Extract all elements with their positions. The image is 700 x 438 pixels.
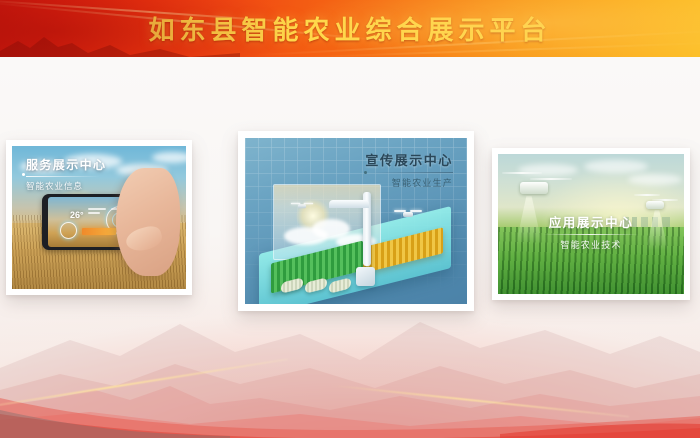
- card-application-text: 应用展示中心 智能农业技术: [498, 212, 684, 251]
- card-service-text: 服务展示中心 智能农业信息: [26, 156, 106, 192]
- card-promotion-subtitle: 智能农业生产: [365, 176, 453, 189]
- banner-light-rays: [0, 0, 700, 57]
- irrigation-pole: [363, 192, 371, 266]
- divider: [543, 234, 639, 235]
- card-service-display-center[interactable]: 26° 服务展示中心 智能农业信息: [6, 140, 192, 295]
- card-service-title: 服务展示中心: [26, 156, 106, 173]
- card-application-image: 应用展示中心 智能农业技术: [498, 154, 684, 294]
- divider: [369, 172, 453, 173]
- hud-temperature: 26°: [70, 210, 84, 220]
- drone-icon: [292, 201, 313, 210]
- header-banner: 如东县智能农业综合展示平台: [0, 0, 700, 57]
- drone-icon: [395, 208, 421, 219]
- card-service-image: 26° 服务展示中心 智能农业信息: [12, 146, 186, 289]
- page-title: 如东县智能农业综合展示平台: [0, 0, 700, 57]
- card-service-subtitle: 智能农业信息: [26, 180, 106, 192]
- divider: [26, 176, 100, 177]
- banner-mountain-silhouette: [0, 31, 240, 57]
- hud-data-bar: [82, 228, 116, 235]
- card-promotion-display-center[interactable]: 宣传展示中心 智能农业生产: [238, 131, 474, 311]
- card-application-display-center[interactable]: 应用展示中心 智能农业技术: [492, 148, 690, 300]
- card-promotion-text: 宣传展示中心 智能农业生产: [365, 150, 453, 189]
- card-promotion-title: 宣传展示中心: [365, 150, 453, 169]
- water-tank: [356, 267, 375, 286]
- drone-icon: [502, 166, 574, 208]
- page-root: 如东县智能农业综合展示平台 26°: [0, 0, 700, 438]
- card-promotion-image: 宣传展示中心 智能农业生产: [245, 138, 467, 304]
- hud-gauge-icon: [60, 222, 77, 239]
- card-application-subtitle: 智能农业技术: [498, 238, 684, 251]
- card-application-title: 应用展示中心: [498, 212, 684, 231]
- hand-illustration: [116, 168, 180, 276]
